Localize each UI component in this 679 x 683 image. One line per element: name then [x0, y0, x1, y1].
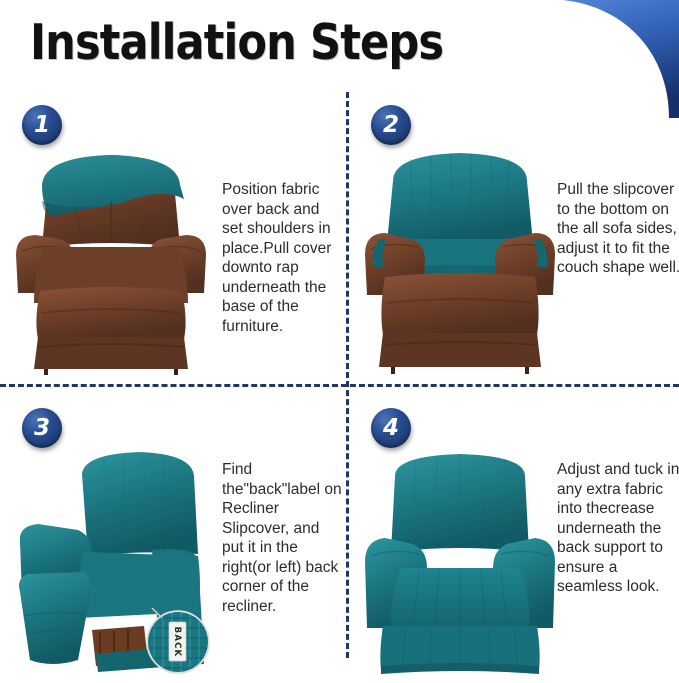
step-badge-3: 3 [22, 408, 62, 448]
step-panel-2: 2 [349, 95, 679, 380]
page-title: Installation Steps [30, 14, 443, 71]
divider-horizontal [0, 384, 679, 387]
step-caption-3: Find the"back"label on Recliner Slipcove… [222, 460, 344, 616]
illustration-step-2 [361, 143, 559, 375]
step-badge-1: 1 [22, 105, 62, 145]
step-caption-1: Position fabric over back and set should… [222, 180, 344, 336]
step-panel-1: 1 [0, 95, 340, 380]
illustration-step-3: BACK [12, 446, 210, 678]
step-caption-4: Adjust and tuck in any extra fabric into… [557, 460, 679, 597]
illustration-step-1 [12, 143, 210, 375]
step-badge-2: 2 [371, 105, 411, 145]
illustration-step-4 [361, 446, 559, 678]
svg-text:BACK: BACK [172, 627, 182, 658]
step-panel-3: 3 [0, 398, 340, 683]
step-panel-4: 4 [349, 398, 679, 683]
step-badge-4: 4 [371, 408, 411, 448]
step-caption-2: Pull the slipcover to the bottom on the … [557, 180, 679, 278]
